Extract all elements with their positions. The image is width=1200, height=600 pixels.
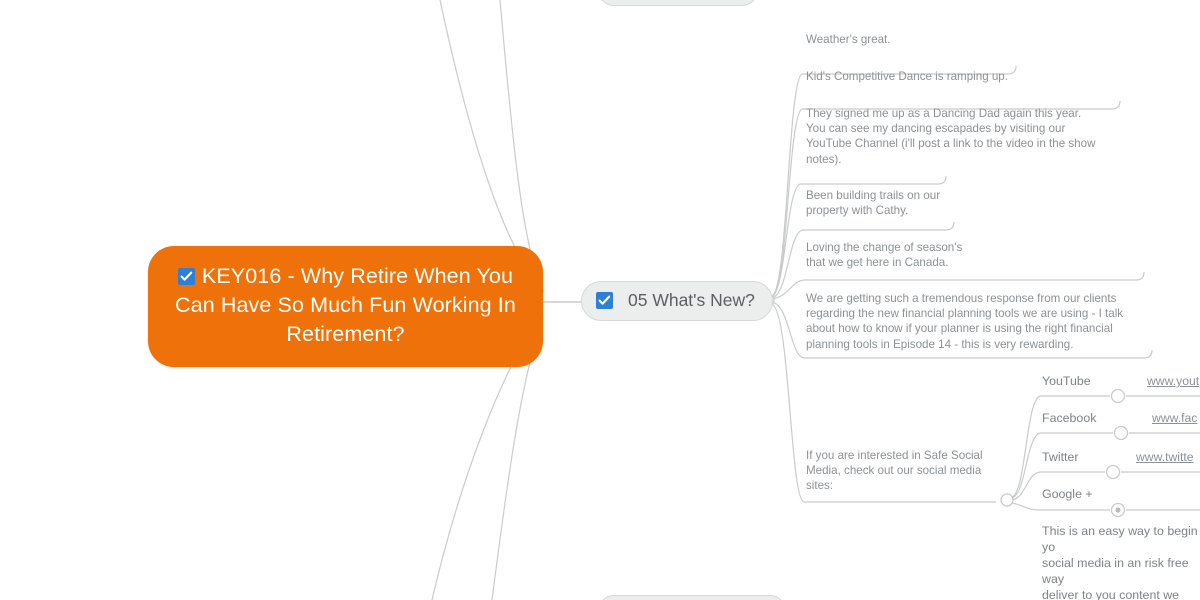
checkbox-icon-root[interactable] <box>178 268 195 285</box>
topic-dance[interactable]: Kid's Competitive Dance is ramping up. <box>806 69 1008 84</box>
node-whats-new-label: 05 What's New? <box>628 290 755 311</box>
node-handle-youtube[interactable] <box>1112 390 1125 403</box>
collapsed-dot-googleplus[interactable] <box>1115 507 1120 512</box>
social-link-facebook[interactable]: www.fac <box>1152 410 1197 426</box>
social-label-facebook[interactable]: Facebook <box>1042 410 1096 426</box>
topic-dancing-dad[interactable]: They signed me up as a Dancing Dad again… <box>806 106 1095 167</box>
node-whats-new[interactable]: 05 What's New? <box>581 281 773 321</box>
node-handle-twitter[interactable] <box>1107 466 1120 479</box>
topic-client-response[interactable]: We are getting such a tremendous respons… <box>806 291 1123 352</box>
root-node-label: KEY016 - Why Retire When You Can Have So… <box>175 264 516 346</box>
node-handle-googleplus[interactable] <box>1112 504 1125 517</box>
topic-social-intro[interactable]: If you are interested in Safe Social Med… <box>806 448 983 494</box>
social-link-twitter[interactable]: www.twitte <box>1136 449 1194 465</box>
topic-trails[interactable]: Been building trails on our property wit… <box>806 188 940 218</box>
sibling-node-below[interactable] <box>598 595 786 600</box>
node-handle-facebook[interactable] <box>1115 427 1128 440</box>
topic-seasons[interactable]: Loving the change of season's that we ge… <box>806 240 962 270</box>
social-label-youtube[interactable]: YouTube <box>1042 373 1091 389</box>
topic-weather[interactable]: Weather's great. <box>806 32 891 47</box>
mindmap-canvas: KEY016 - Why Retire When You Can Have So… <box>0 0 1200 600</box>
sibling-node-above[interactable] <box>598 0 758 6</box>
social-label-twitter[interactable]: Twitter <box>1042 449 1079 465</box>
checkbox-icon-whats-new[interactable] <box>596 292 613 309</box>
social-label-googleplus[interactable]: Google + <box>1042 486 1093 502</box>
hub-circle-social[interactable] <box>1001 494 1013 506</box>
social-note[interactable]: This is an easy way to begin yo social m… <box>1042 523 1200 600</box>
root-node[interactable]: KEY016 - Why Retire When You Can Have So… <box>148 246 543 367</box>
social-link-youtube[interactable]: www.yout <box>1147 373 1199 389</box>
